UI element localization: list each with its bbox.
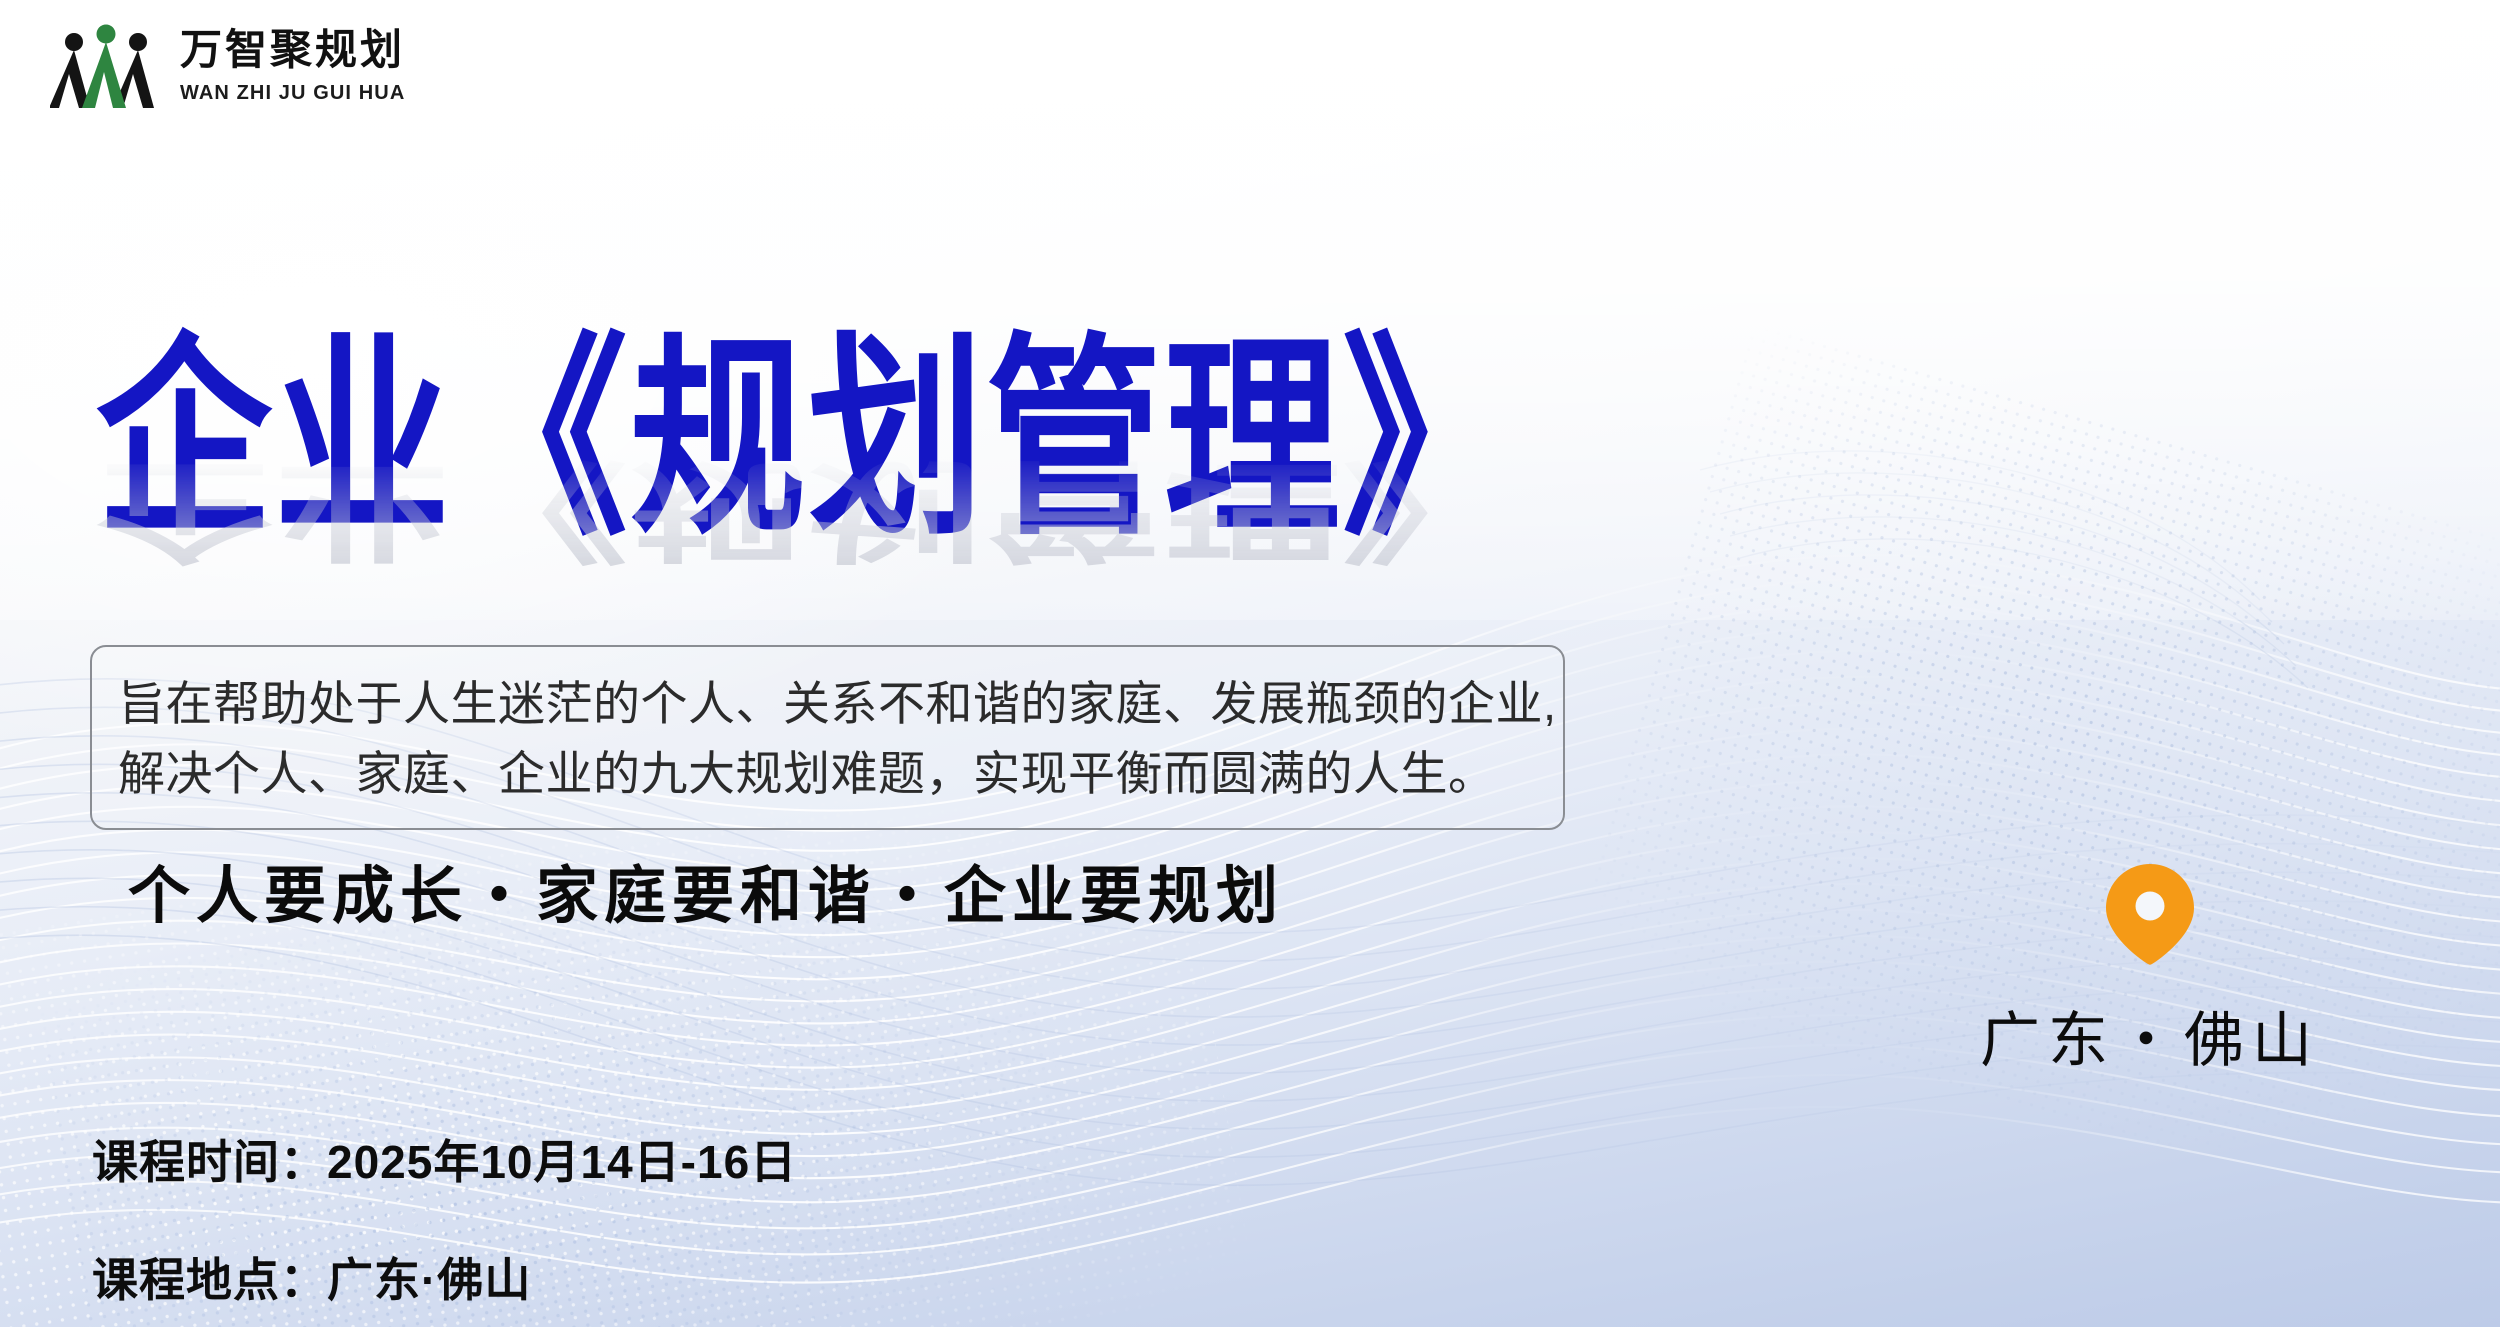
map-pin-icon (2104, 862, 2196, 966)
description-line-2: 解决个人、家庭、企业的九大规划难题，实现平衡而圆满的人生。 (118, 739, 1537, 809)
page-title-reflection: 企业《规划管理》 (96, 443, 1520, 574)
location-block: 广东・佛山 (1960, 862, 2340, 1079)
course-time: 课程时间：2025年10月14日-16日 (92, 1126, 797, 1192)
description-box: 旨在帮助处于人生迷茫的个人、关系不和谐的家庭、发展瓶颈的企业, 解决个人、家庭、… (90, 645, 1565, 830)
three-people-m-logo-icon (50, 18, 162, 110)
location-label: 广东・佛山 (1980, 992, 2320, 1079)
tagline: 个人要成长・家庭要和谐・企业要规划 (128, 845, 1284, 935)
promo-poster: 万智聚规划 WAN ZHI JU GUI HUA 企业《规划管理》 企业《规划管… (0, 0, 2500, 1327)
brand-name-cn: 万智聚规划 (180, 30, 405, 72)
course-meta-block: 课程时间：2025年10月14日-16日 课程地点：广东·佛山 (92, 1126, 797, 1310)
brand-name-en: WAN ZHI JU GUI HUA (180, 83, 405, 103)
brand-logo-block[interactable]: 万智聚规划 WAN ZHI JU GUI HUA (50, 18, 405, 110)
dot-mesh-right (1564, 319, 2500, 1221)
description-line-1: 旨在帮助处于人生迷茫的个人、关系不和谐的家庭、发展瓶颈的企业, (118, 669, 1537, 739)
course-place: 课程地点：广东·佛山 (92, 1244, 797, 1310)
hero-title-wrap: 企业《规划管理》 企业《规划管理》 (96, 312, 1656, 642)
